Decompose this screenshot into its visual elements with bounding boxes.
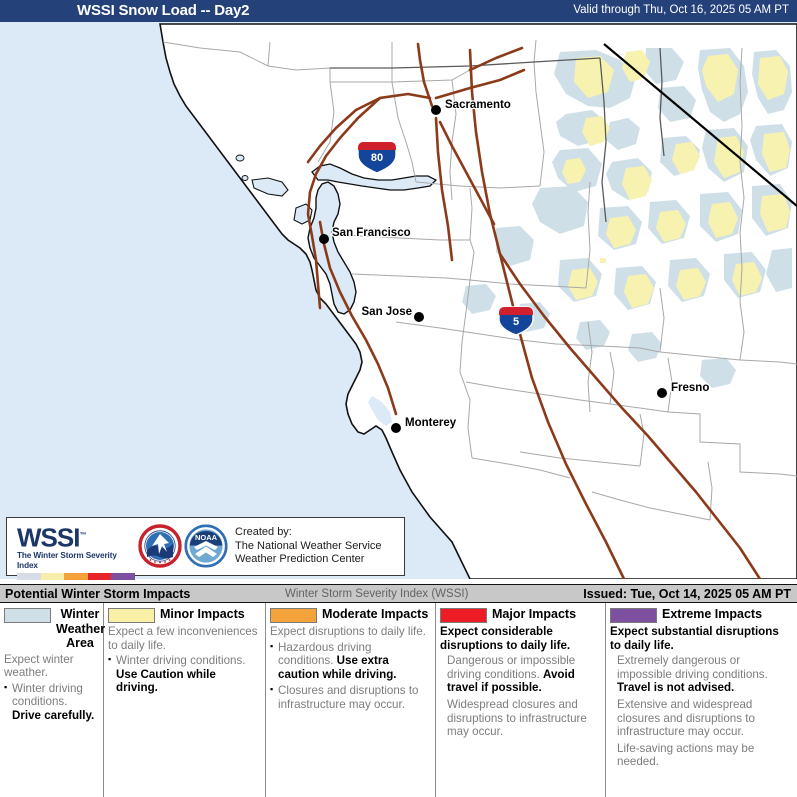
legend-body-major-impacts: Expect considerable disruptions to daily…	[440, 625, 600, 739]
national-weather-service-seal	[138, 524, 182, 568]
legend-title-minor-impacts: Minor Impacts	[160, 607, 245, 622]
lake-berryessa	[236, 155, 244, 161]
legend-bullet: Closures and disruptions to infrastructu…	[270, 684, 430, 711]
legend-column-moderate-impacts[interactable]: Moderate Impacts Expect disruptions to d…	[266, 603, 436, 797]
legend-paragraph: Widespread closures and disruptions to i…	[440, 698, 600, 739]
swatch-major-impacts	[440, 608, 487, 623]
impacts-bar-subtitle: Winter Storm Severity Index (WSSI)	[285, 588, 468, 600]
issued-text: Issued: Tue, Oct 14, 2025 05 AM PT	[583, 587, 791, 601]
city-label-sacramento: Sacramento	[445, 99, 511, 111]
city-dot-monterey	[391, 423, 401, 433]
legend-column-extreme-impacts[interactable]: Extreme Impacts Expect substantial disru…	[606, 603, 797, 797]
impacts-legend: Winter Weather Area Expect winter weathe…	[0, 603, 797, 797]
legend-body-extreme-impacts: Expect substantial disruptions to daily …	[610, 625, 792, 769]
legend-paragraph: Dangerous or impossible driving conditio…	[440, 654, 600, 695]
legend-lead-major-impacts: Expect considerable disruptions to daily…	[440, 625, 600, 652]
swatch-winter-weather	[4, 608, 51, 623]
svg-text:80: 80	[371, 152, 383, 164]
page-title: WSSI Snow Load -- Day2	[77, 2, 249, 19]
legend-column-minor-impacts[interactable]: Minor Impacts Expect a few inconvenience…	[104, 603, 266, 797]
wssi-logo: WSSI™ The Winter Storm Severity Index	[17, 523, 135, 580]
legend-bullet: Winter driving conditions. Use Caution w…	[108, 654, 260, 695]
noaa-seal-text: NOAA	[195, 533, 218, 542]
potential-impacts-bar: Potential Winter Storm Impacts Winter St…	[0, 584, 797, 603]
legend-bullets-moderate-impacts: Hazardous driving conditions. Use extra …	[270, 641, 430, 712]
legend-header-moderate-impacts: Moderate Impacts	[270, 607, 430, 623]
legend-header-winter-weather: Winter Weather Area	[4, 607, 98, 651]
credit-text: Created by: The National Weather Service…	[235, 526, 382, 567]
legend-header-extreme-impacts: Extreme Impacts	[610, 607, 792, 623]
legend-column-winter-weather[interactable]: Winter Weather Area Expect winter weathe…	[0, 603, 104, 797]
trademark-symbol: ™	[79, 532, 86, 539]
title-bar: WSSI Snow Load -- Day2 Valid through Thu…	[0, 0, 797, 22]
legend-title-major-impacts: Major Impacts	[492, 607, 576, 622]
legend-paragraph: Extremely dangerous or impossible drivin…	[610, 654, 792, 695]
city-label-san-francisco: San Francisco	[332, 227, 411, 239]
legend-lead-extreme-impacts: Expect substantial disruptions to daily …	[610, 625, 792, 652]
swatch-extreme-impacts	[610, 608, 657, 623]
swatch-minor-impacts	[108, 608, 155, 623]
city-label-monterey: Monterey	[405, 417, 457, 429]
city-label-fresno: Fresno	[671, 382, 709, 394]
legend-bullets-winter-weather: Winter driving conditions. Drive careful…	[4, 682, 98, 723]
wssi-subtitle: The Winter Storm Severity Index	[17, 551, 135, 571]
legend-paragraph: Life-saving actions may be needed.	[610, 742, 792, 769]
wssi-snow-load-map-page: WSSI Snow Load -- Day2 Valid through Thu…	[0, 0, 797, 797]
legend-body-winter-weather: Expect winter weather. Winter driving co…	[4, 653, 98, 723]
legend-bullet: Hazardous driving conditions. Use extra …	[270, 641, 430, 682]
city-dot-fresno	[657, 388, 667, 398]
legend-title-moderate-impacts: Moderate Impacts	[322, 607, 428, 622]
legend-bullet: Winter driving conditions. Drive careful…	[4, 682, 98, 723]
legend-header-minor-impacts: Minor Impacts	[108, 607, 260, 623]
credit-line-3: Weather Prediction Center	[235, 553, 382, 567]
legend-title-winter-weather: Winter Weather Area	[56, 607, 104, 651]
swatch-moderate-impacts	[270, 608, 317, 623]
valid-through-text: Valid through Thu, Oct 16, 2025 05 AM PT	[573, 4, 789, 16]
credit-line-2: The National Weather Service	[235, 540, 382, 554]
legend-lead-winter-weather: Expect winter weather.	[4, 653, 98, 680]
city-dot-sacramento	[431, 105, 441, 115]
legend-header-major-impacts: Major Impacts	[440, 607, 600, 623]
legend-lead-minor-impacts: Expect a few inconveniences to daily lif…	[108, 625, 260, 652]
lake-small	[242, 176, 248, 181]
legend-bullets-minor-impacts: Winter driving conditions. Use Caution w…	[108, 654, 260, 695]
svg-text:5: 5	[513, 316, 519, 328]
map-canvas[interactable]: Sacramento San Francisco San Jose Monter…	[0, 22, 797, 579]
legend-lead-moderate-impacts: Expect disruptions to daily life.	[270, 625, 430, 639]
legend-body-moderate-impacts: Expect disruptions to daily life. Hazard…	[270, 625, 430, 712]
legend-title-extreme-impacts: Extreme Impacts	[662, 607, 762, 622]
wssi-logo-panel: WSSI™ The Winter Storm Severity Index	[6, 517, 405, 576]
city-label-san-jose: San Jose	[362, 306, 413, 318]
wssi-severity-color-bar	[17, 573, 135, 580]
city-dot-san-jose	[414, 312, 424, 322]
legend-column-major-impacts[interactable]: Major Impacts Expect considerable disrup…	[436, 603, 606, 797]
impacts-bar-title: Potential Winter Storm Impacts	[5, 587, 190, 601]
noaa-seal: NOAA	[184, 524, 228, 568]
legend-paragraph: Extensive and widespread closures and di…	[610, 698, 792, 739]
legend-body-minor-impacts: Expect a few inconveniences to daily lif…	[108, 625, 260, 695]
wssi-wordmark: WSSI™	[17, 523, 135, 551]
credit-line-1: Created by:	[235, 526, 382, 540]
city-dot-san-francisco	[319, 234, 329, 244]
